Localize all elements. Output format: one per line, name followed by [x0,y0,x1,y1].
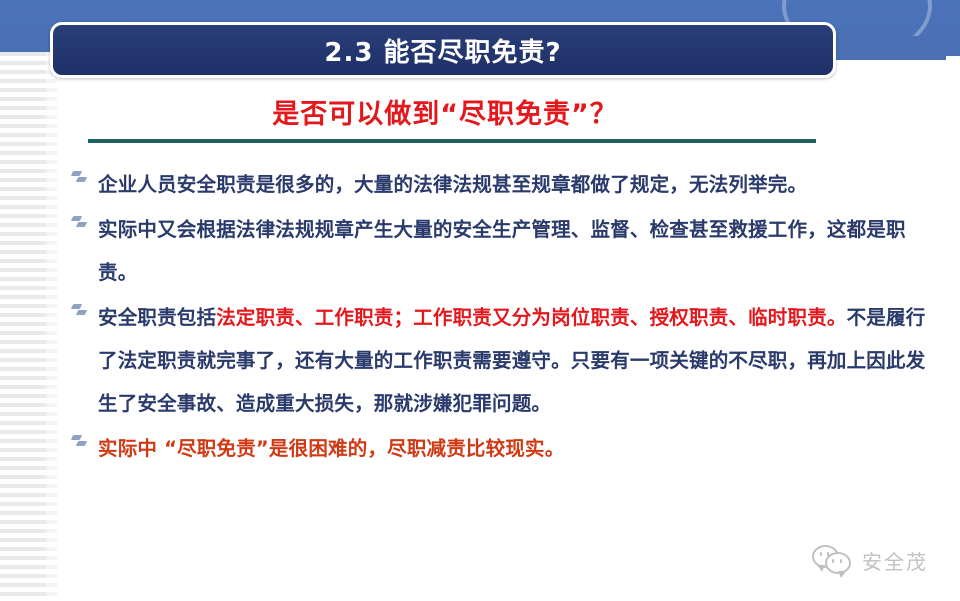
watermark: 安全茂 [812,545,928,575]
bullet-segment: 企业人员安全职责是很多的，大量的法律法规甚至规章都做了规定，无法列举完。 [98,173,807,196]
page-title: 2.3 能否尽职免责? [324,32,561,69]
double-diamond-icon [68,296,98,305]
speech-bubble-front-icon [825,552,851,574]
watermark-label: 安全茂 [862,546,928,575]
divider-rule [88,139,816,143]
bullet-segment: 安全职责包括 [98,306,216,329]
double-diamond-icon [68,208,98,217]
double-diamond-icon [68,427,98,436]
bullet-item: 安全职责包括法定职责、工作职责；工作职责又分为岗位职责、授权职责、临时职责。不是… [68,296,928,425]
wechat-logo-icon [812,545,852,575]
bullet-segment: 实际中又会根据法律法规规章产生大量的安全生产管理、监督、检查甚至救援工作，这都是… [98,218,906,284]
double-diamond-icon [68,163,98,172]
bullet-segment: 法定职责、工作职责；工作职责又分为岗位职责、授权职责、临时职责。 [216,306,846,329]
subtitle-question: 是否可以做到“尽职免责”？ [0,92,890,131]
bullet-text: 安全职责包括法定职责、工作职责；工作职责又分为岗位职责、授权职责、临时职责。不是… [98,296,928,425]
bullet-text: 实际中又会根据法律法规规章产生大量的安全生产管理、监督、检查甚至救援工作，这都是… [98,208,928,294]
bullet-list: 企业人员安全职责是很多的，大量的法律法规甚至规章都做了规定，无法列举完。实际中又… [68,163,928,472]
bullet-item: 实际中 “尽职免责”是很困难的，尽职减责比较现实。 [68,427,928,470]
slide-canvas: 2.3 能否尽职免责? 是否可以做到“尽职免责”？ 企业人员安全职责是很多的，大… [0,0,960,601]
bullet-item: 企业人员安全职责是很多的，大量的法律法规甚至规章都做了规定，无法列举完。 [68,163,928,206]
bullet-item: 实际中又会根据法律法规规章产生大量的安全生产管理、监督、检查甚至救援工作，这都是… [68,208,928,294]
bullet-text: 实际中 “尽职免责”是很困难的，尽职减责比较现实。 [98,427,928,470]
bullet-segment: 实际中 “尽职免责”是很困难的，尽职减责比较现实。 [98,437,564,460]
bullet-text: 企业人员安全职责是很多的，大量的法律法规甚至规章都做了规定，无法列举完。 [98,163,928,206]
left-stripe-decoration [0,52,46,601]
section-title-plate: 2.3 能否尽职免责? [50,22,836,78]
left-stripe-decoration-secondary [46,52,57,601]
